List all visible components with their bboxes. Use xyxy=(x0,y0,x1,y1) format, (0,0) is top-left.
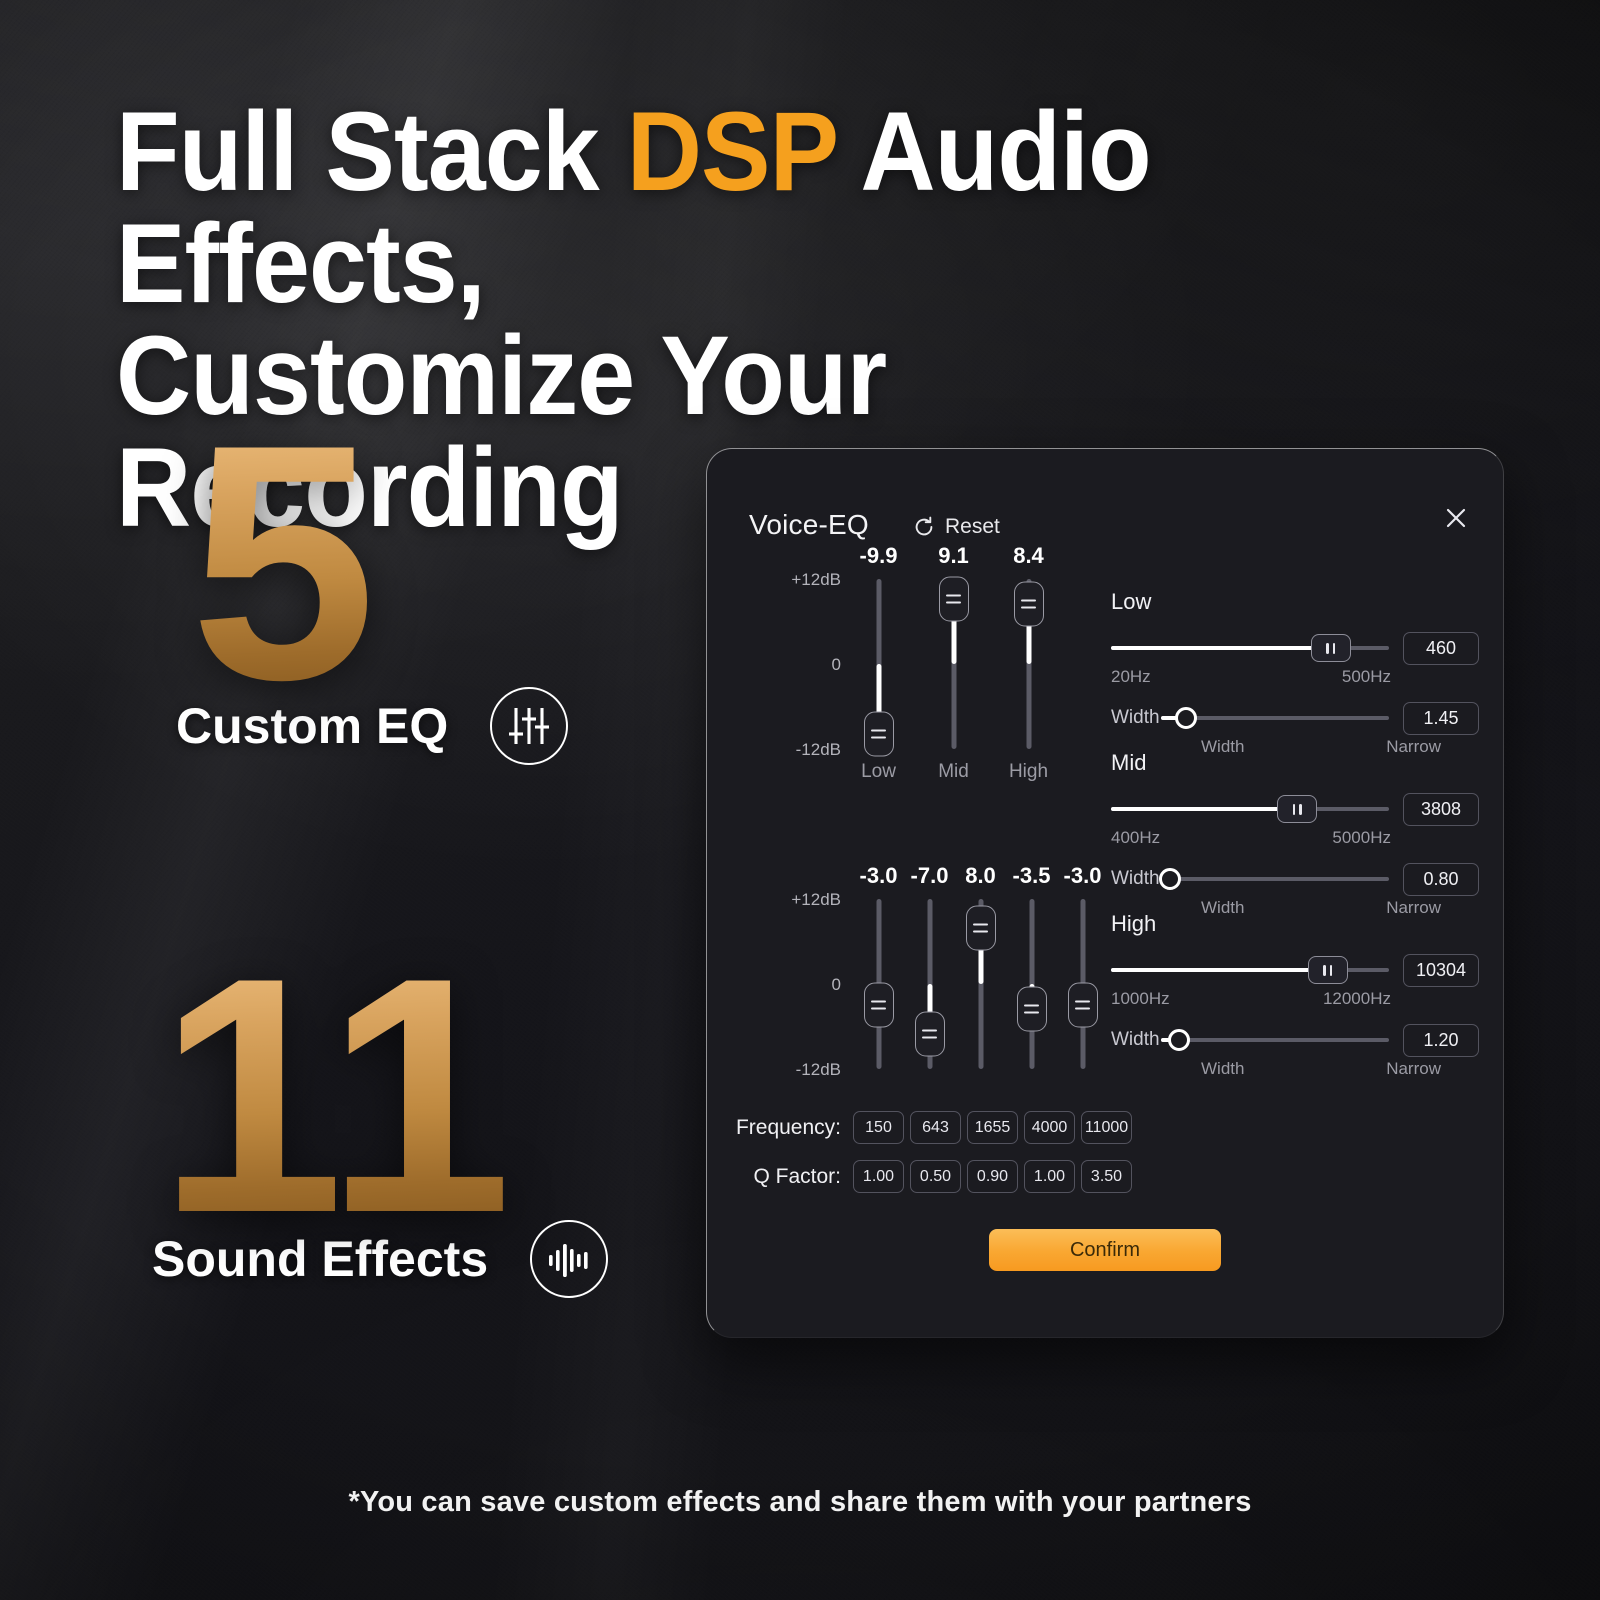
fader-thumb[interactable] xyxy=(915,1012,945,1057)
band-mid-width-value[interactable]: 0.80 xyxy=(1403,863,1479,896)
band-mid-freq-min: 400Hz xyxy=(1111,828,1160,848)
band-low-width-slider[interactable] xyxy=(1161,703,1389,733)
reset-button[interactable]: Reset xyxy=(913,515,1000,539)
band-low-width-value[interactable]: 1.45 xyxy=(1403,702,1479,735)
band-section-high: High 10304 1000Hz 12000Hz Width 1.20 Wid… xyxy=(1111,911,1479,1095)
slider-thumb[interactable] xyxy=(1159,868,1181,890)
waveform-icon xyxy=(530,1220,608,1298)
band-section-low: Low 460 20Hz 500Hz Width 1.45 Width Narr… xyxy=(1111,589,1479,773)
band-high-width-label: Width xyxy=(1111,1029,1161,1051)
frequency-label: Frequency: xyxy=(715,1116,841,1140)
refresh-icon xyxy=(913,516,935,538)
fader-thumb[interactable] xyxy=(1068,983,1098,1028)
band-fader-5[interactable]: -3.0 xyxy=(1057,899,1108,1069)
band-title-mid: Mid xyxy=(1111,750,1479,776)
scale-label-mid: 0 xyxy=(832,655,841,675)
band-mid-width-slider[interactable] xyxy=(1161,864,1389,894)
band-high-frequency-slider[interactable] xyxy=(1111,955,1389,985)
dialog-title: Voice-EQ xyxy=(749,509,869,541)
fader-thumb[interactable] xyxy=(1014,582,1044,627)
headline-line1-part1: Full Stack xyxy=(116,89,627,214)
headline-accent-dsp: DSP xyxy=(627,89,836,214)
band-mid-frequency-value[interactable]: 3808 xyxy=(1403,793,1479,826)
fader-thumb[interactable] xyxy=(939,577,969,622)
q-factor-input-5[interactable]: 3.50 xyxy=(1081,1160,1132,1193)
slider-fill xyxy=(1111,807,1297,811)
db-scale-bottom: +12dB 0 -12dB xyxy=(723,899,841,1069)
fader-value-mid: 9.1 xyxy=(938,543,969,569)
footer-note: *You can save custom effects and share t… xyxy=(0,1486,1600,1519)
slider-thumb[interactable] xyxy=(1277,795,1317,823)
band-high-width-value[interactable]: 1.20 xyxy=(1403,1024,1479,1057)
feature-custom-eq: 5 Custom EQ xyxy=(168,432,568,765)
frequency-input-1[interactable]: 150 xyxy=(853,1111,904,1144)
fader-value-low: -9.9 xyxy=(860,543,898,569)
scale-label-mid: 0 xyxy=(832,975,841,995)
slider-thumb[interactable] xyxy=(1168,1029,1190,1051)
band-value-5: -3.0 xyxy=(1064,863,1102,889)
q-factor-input-1[interactable]: 1.00 xyxy=(853,1160,904,1193)
band-high-width-row: Width 1.20 xyxy=(1111,1025,1479,1055)
band-high-frequency-value[interactable]: 10304 xyxy=(1403,954,1479,987)
band-low-freq-min: 20Hz xyxy=(1111,667,1151,687)
slider-fill xyxy=(1111,646,1331,650)
fader-label-mid: Mid xyxy=(938,761,969,783)
fader-value-high: 8.4 xyxy=(1013,543,1044,569)
slider-thumb[interactable] xyxy=(1308,956,1348,984)
band-mid-width-row: Width 0.80 xyxy=(1111,864,1479,894)
eq-faders-icon xyxy=(490,687,568,765)
scale-label-top: +12dB xyxy=(791,570,841,590)
frequency-input-5[interactable]: 11000 xyxy=(1081,1111,1132,1144)
band-mid-frequency-slider[interactable] xyxy=(1111,794,1389,824)
band-value-1: -3.0 xyxy=(860,863,898,889)
band-value-4: -3.5 xyxy=(1013,863,1051,889)
confirm-button[interactable]: Confirm xyxy=(989,1229,1221,1271)
band-fader-3[interactable]: 8.0 xyxy=(955,899,1006,1069)
slider-thumb[interactable] xyxy=(1311,634,1351,662)
scale-label-bottom: -12dB xyxy=(796,1060,841,1080)
frequency-input-2[interactable]: 643 xyxy=(910,1111,961,1144)
band-low-frequency-slider[interactable] xyxy=(1111,633,1389,663)
feature-sound-effects: 11 Sound Effects xyxy=(152,965,608,1298)
band-mid-width-label: Width xyxy=(1111,868,1161,890)
close-icon[interactable] xyxy=(1441,503,1471,533)
slider-thumb[interactable] xyxy=(1175,707,1197,729)
slider-track xyxy=(1161,1038,1389,1042)
band-low-frequency-range: 20Hz 500Hz xyxy=(1111,667,1391,687)
band-low-frequency-value[interactable]: 460 xyxy=(1403,632,1479,665)
voice-eq-dialog: Voice-EQ Reset +12dB 0 -12dB -9.9 Low xyxy=(706,448,1504,1338)
band-fader-4[interactable]: -3.5 xyxy=(1006,899,1057,1069)
band-high-freq-min: 1000Hz xyxy=(1111,989,1170,1009)
fader-thumb[interactable] xyxy=(864,983,894,1028)
reset-label: Reset xyxy=(945,515,1000,539)
band-high-frequency-range: 1000Hz 12000Hz xyxy=(1111,989,1391,1009)
fader-high[interactable]: 8.4 High xyxy=(1003,579,1054,749)
band-mid-frequency-range: 400Hz 5000Hz xyxy=(1111,828,1391,848)
band-high-width-range: Width Narrow xyxy=(1201,1059,1441,1079)
band-high-frequency-row: 10304 xyxy=(1111,955,1479,985)
fader-thumb[interactable] xyxy=(864,712,894,757)
slider-fill xyxy=(1111,968,1328,972)
band-fader-2[interactable]: -7.0 xyxy=(904,899,955,1069)
fader-thumb[interactable] xyxy=(966,906,996,951)
db-scale-top: +12dB 0 -12dB xyxy=(749,579,841,749)
band-high-width-slider[interactable] xyxy=(1161,1025,1389,1055)
frequency-input-3[interactable]: 1655 xyxy=(967,1111,1018,1144)
dialog-actions: Confirm xyxy=(707,1229,1503,1271)
q-factor-input-2[interactable]: 0.50 xyxy=(910,1160,961,1193)
band-title-low: Low xyxy=(1111,589,1479,615)
scale-label-bottom: -12dB xyxy=(796,740,841,760)
band-mid-frequency-row: 3808 xyxy=(1111,794,1479,824)
frequency-input-4[interactable]: 4000 xyxy=(1024,1111,1075,1144)
band-high-width-min: Width xyxy=(1201,1059,1244,1079)
band-value-2: -7.0 xyxy=(911,863,949,889)
q-factor-row: Q Factor: 1.00 0.50 0.90 1.00 3.50 xyxy=(715,1160,1138,1193)
frequency-row: Frequency: 150 643 1655 4000 11000 xyxy=(715,1111,1138,1144)
q-factor-input-3[interactable]: 0.90 xyxy=(967,1160,1018,1193)
fader-thumb[interactable] xyxy=(1017,987,1047,1032)
scale-label-top: +12dB xyxy=(791,890,841,910)
feature-number-5: 5 xyxy=(190,432,568,693)
band-title-high: High xyxy=(1111,911,1479,937)
band-high-freq-max: 12000Hz xyxy=(1323,989,1391,1009)
band-low-width-label: Width xyxy=(1111,707,1161,729)
fader-label-high: High xyxy=(1009,761,1048,783)
band-section-mid: Mid 3808 400Hz 5000Hz Width 0.80 Width N… xyxy=(1111,750,1479,934)
fader-mid[interactable]: 9.1 Mid xyxy=(928,579,979,749)
band-fader-1[interactable]: -3.0 xyxy=(853,899,904,1069)
band-high-width-max: Narrow xyxy=(1386,1059,1441,1079)
q-factor-label: Q Factor: xyxy=(715,1165,841,1189)
fader-label-low: Low xyxy=(861,761,896,783)
band-low-width-row: Width 1.45 xyxy=(1111,703,1479,733)
band-low-freq-max: 500Hz xyxy=(1342,667,1391,687)
band-value-3: 8.0 xyxy=(965,863,996,889)
band-low-frequency-row: 460 xyxy=(1111,633,1479,663)
slider-track xyxy=(1161,877,1389,881)
q-factor-input-4[interactable]: 1.00 xyxy=(1024,1160,1075,1193)
fader-low[interactable]: -9.9 Low xyxy=(853,579,904,749)
band-mid-freq-max: 5000Hz xyxy=(1332,828,1391,848)
feature-number-11: 11 xyxy=(158,965,608,1226)
